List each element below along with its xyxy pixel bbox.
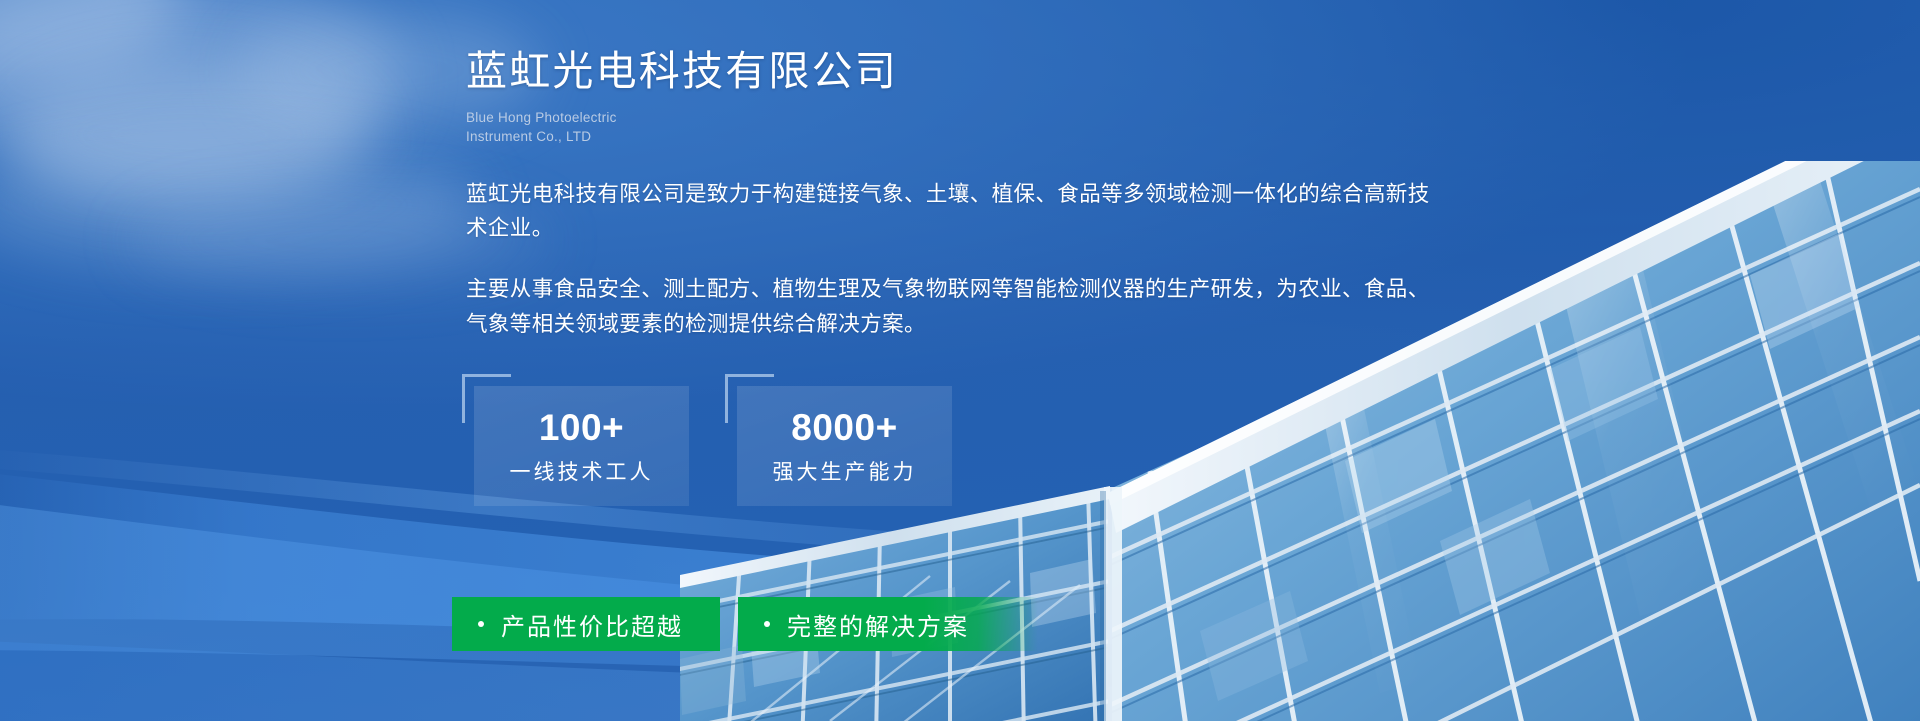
subtitle-line-2: Instrument Co., LTD	[466, 127, 1466, 146]
intro-paragraph-2: 主要从事食品安全、测土配方、植物生理及气象物联网等智能检测仪器的生产研发，为农业…	[466, 272, 1451, 342]
building-corner-column	[1104, 487, 1122, 721]
bullet-dot-icon	[478, 621, 484, 627]
intro-paragraph-1: 蓝虹光电科技有限公司是致力于构建链接气象、土壤、植保、食品等多领域检测一体化的综…	[466, 177, 1451, 247]
feature-tag-price: 产品性价比超越	[452, 597, 720, 651]
subtitle-line-1: Blue Hong Photoelectric	[466, 108, 1466, 127]
building-corner-shadow	[1100, 491, 1106, 721]
stat-card-workers: 100+ 一线技术工人	[474, 386, 689, 506]
feature-tag-label: 完整的解决方案	[787, 607, 969, 642]
bullet-dot-icon	[764, 621, 770, 627]
stat-card-capacity: 8000+ 强大生产能力	[737, 386, 952, 506]
stats-group: 100+ 一线技术工人 8000+ 强大生产能力	[474, 386, 1466, 506]
stat-label: 一线技术工人	[510, 462, 654, 483]
hero-text-content: 蓝虹光电科技有限公司 Blue Hong Photoelectric Instr…	[466, 0, 1466, 506]
stat-label: 强大生产能力	[773, 462, 917, 483]
feature-tag-label: 产品性价比超越	[501, 607, 683, 642]
company-hero-banner: 蓝虹光电科技有限公司 Blue Hong Photoelectric Instr…	[0, 0, 1920, 721]
company-title: 蓝虹光电科技有限公司	[466, 46, 1466, 97]
feature-tag-solution: 完整的解决方案	[738, 597, 1038, 651]
stat-value: 8000+	[791, 409, 897, 446]
feature-tags-group: 产品性价比超越 完整的解决方案	[452, 597, 1038, 651]
company-subtitle-en: Blue Hong Photoelectric Instrument Co., …	[466, 108, 1466, 146]
stat-value: 100+	[539, 409, 624, 446]
